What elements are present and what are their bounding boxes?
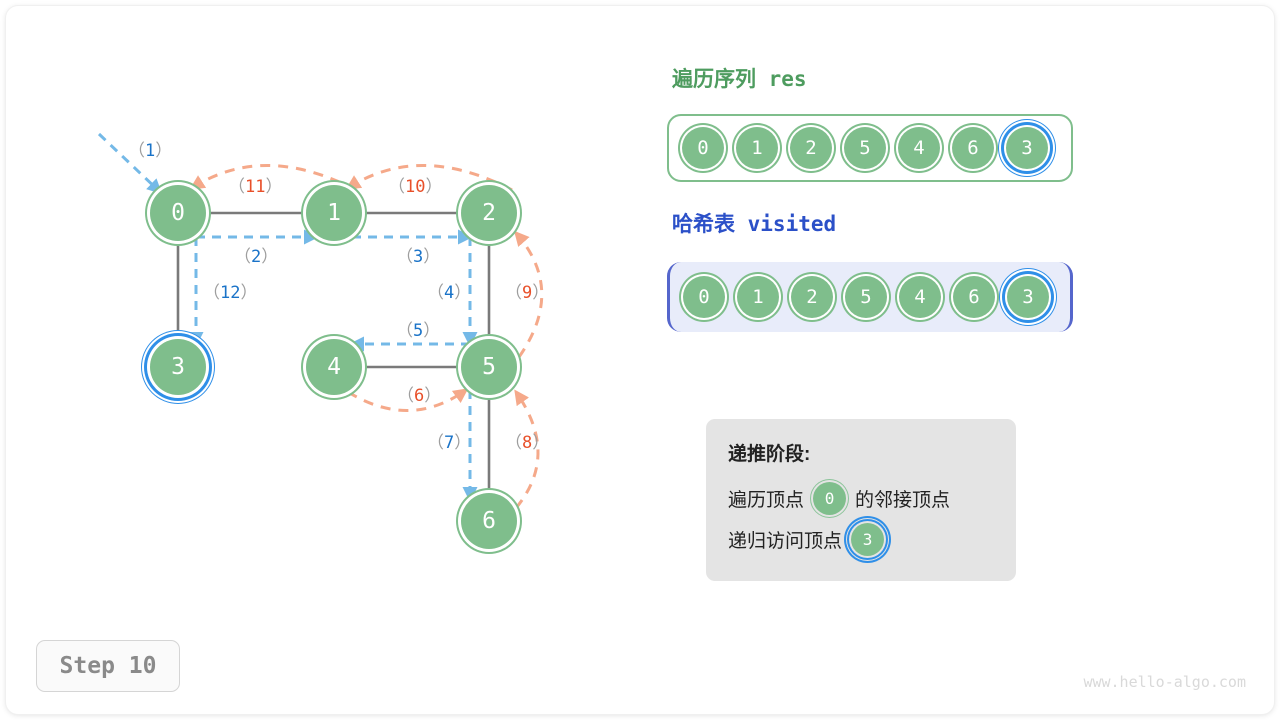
res-chip-label: 3 xyxy=(1021,137,1032,159)
visited-chip-label: 1 xyxy=(752,286,763,308)
step-label-number: 10 xyxy=(405,177,425,197)
step-badge: Step 10 xyxy=(36,640,180,692)
step-label-number: 11 xyxy=(245,177,265,197)
info-chip-label: 3 xyxy=(863,530,873,549)
step-label-number: 4 xyxy=(444,283,454,303)
info-line-1-suffix: 的邻接顶点 xyxy=(855,485,950,512)
step-label-4: （4） xyxy=(427,278,471,303)
info-panel-line-1: 遍历顶点 0 的邻接顶点 xyxy=(728,482,1016,515)
visited-chip[interactable]: 5 xyxy=(845,276,887,318)
visited-chip-label: 3 xyxy=(1022,286,1033,308)
res-chip-label: 4 xyxy=(913,137,924,159)
res-chip-label: 2 xyxy=(805,137,816,159)
step-label-8: （8） xyxy=(505,428,549,453)
step-label-5: （5） xyxy=(396,316,440,341)
info-chip-current-vertex: 0 xyxy=(813,482,846,515)
step-label-2: （2） xyxy=(234,242,278,267)
visited-chip[interactable]: 6 xyxy=(953,276,995,318)
visited-chip-label: 5 xyxy=(860,286,871,308)
res-chip-label: 0 xyxy=(697,137,708,159)
visited-chip[interactable]: 1 xyxy=(737,276,779,318)
graph-node-5[interactable]: 5 xyxy=(461,339,517,395)
info-chip-visiting-vertex: 3 xyxy=(851,523,884,556)
step-label-number: 7 xyxy=(444,433,454,453)
step-label-number: 5 xyxy=(413,321,423,341)
visited-chip[interactable]: 2 xyxy=(791,276,833,318)
res-chip[interactable]: 0 xyxy=(682,127,724,169)
graph-node-label: 2 xyxy=(482,200,496,226)
step-label-number: 9 xyxy=(522,283,532,303)
graph-node-label: 5 xyxy=(482,354,496,380)
step-label-number: 8 xyxy=(522,433,532,453)
info-line-2-prefix: 递归访问顶点 xyxy=(728,526,842,553)
visited-chip[interactable]: 0 xyxy=(683,276,725,318)
res-chip-label: 5 xyxy=(859,137,870,159)
info-line-1-prefix: 遍历顶点 xyxy=(728,485,804,512)
info-chip-label: 0 xyxy=(825,489,835,508)
step-label-number: 2 xyxy=(251,247,261,267)
step-label-3: （3） xyxy=(396,242,440,267)
step-label-7: （7） xyxy=(427,428,471,453)
graph-node-label: 3 xyxy=(171,354,185,380)
res-chip[interactable]: 1 xyxy=(736,127,778,169)
res-title: 遍历序列 res xyxy=(672,63,807,93)
res-sequence-box: 0 1 2 5 4 6 3 xyxy=(667,114,1073,182)
step-label-number: 6 xyxy=(414,386,424,406)
info-panel-line-2: 递归访问顶点 3 xyxy=(728,523,1016,556)
graph-node-label: 4 xyxy=(327,354,341,380)
visited-chip-label: 2 xyxy=(806,286,817,308)
step-label-10: （10） xyxy=(388,172,442,197)
visited-chip-label: 6 xyxy=(968,286,979,308)
watermark: www.hello-algo.com xyxy=(1083,673,1246,691)
res-chip[interactable]: 5 xyxy=(844,127,886,169)
visited-sequence-box: 0 1 2 5 4 6 3 xyxy=(667,262,1073,332)
res-chip-highlighted[interactable]: 3 xyxy=(1006,127,1048,169)
step-label-9: （9） xyxy=(505,278,549,303)
step-label-number: 3 xyxy=(413,247,423,267)
res-chip[interactable]: 2 xyxy=(790,127,832,169)
visited-chip-highlighted[interactable]: 3 xyxy=(1007,276,1049,318)
res-chip-label: 6 xyxy=(967,137,978,159)
step-label-1: （1） xyxy=(128,136,172,161)
visited-title: 哈希表 visited xyxy=(672,208,836,238)
graph-node-3[interactable]: 3 xyxy=(150,339,206,395)
graph-node-label: 1 xyxy=(327,200,341,226)
visited-chip-label: 0 xyxy=(698,286,709,308)
graph-node-0[interactable]: 0 xyxy=(150,185,206,241)
graph-node-2[interactable]: 2 xyxy=(461,185,517,241)
res-chip[interactable]: 6 xyxy=(952,127,994,169)
graph-node-label: 6 xyxy=(482,508,496,534)
graph-node-1[interactable]: 1 xyxy=(306,185,362,241)
graph-node-6[interactable]: 6 xyxy=(461,493,517,549)
info-panel: 递推阶段: 遍历顶点 0 的邻接顶点 递归访问顶点 3 xyxy=(706,419,1016,581)
visited-chip[interactable]: 4 xyxy=(899,276,941,318)
info-panel-heading: 递推阶段: xyxy=(728,439,1016,466)
step-label-6: （6） xyxy=(397,381,441,406)
res-chip-label: 1 xyxy=(751,137,762,159)
step-label-number: 1 xyxy=(145,141,155,161)
step-label-11: （11） xyxy=(228,172,282,197)
graph-node-4[interactable]: 4 xyxy=(306,339,362,395)
step-label-12: （12） xyxy=(203,278,257,303)
diagram-canvas: 0 1 2 3 4 5 6 （1） （11） （10） （2） （3） （12）… xyxy=(0,0,1280,720)
step-label-number: 12 xyxy=(220,283,240,303)
graph-node-label: 0 xyxy=(171,200,185,226)
visited-chip-label: 4 xyxy=(914,286,925,308)
res-chip[interactable]: 4 xyxy=(898,127,940,169)
